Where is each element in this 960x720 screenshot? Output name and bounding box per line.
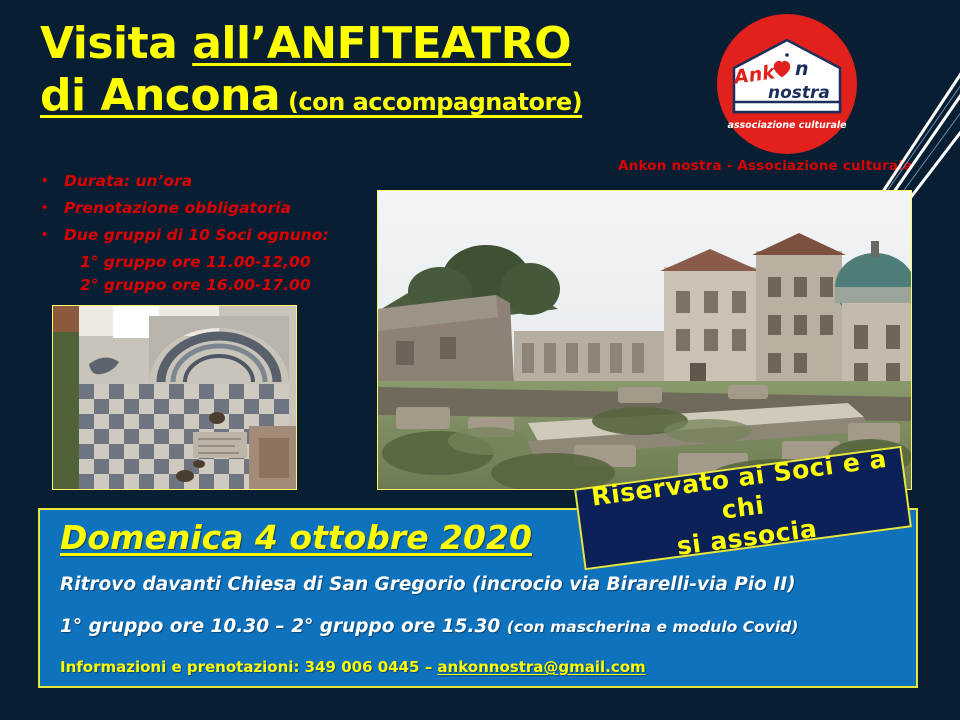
bullet-list: • Durata: un’ora • Prenotazione obbligat… [42, 170, 372, 297]
bullet-dot-icon: • [42, 224, 64, 246]
bullet-dot-icon: • [42, 170, 64, 192]
list-item: • Due gruppi di 10 Soci ognuno: [42, 224, 372, 246]
title-word-visita: Visita [40, 18, 192, 69]
list-item-label: Durata: un’ora [64, 170, 192, 192]
photo-mosaico [52, 305, 297, 490]
group-times-main: 1° gruppo ore 10.30 – 2° gruppo ore 15.3… [60, 616, 507, 637]
title-line-1: Visita all’ANFITEATRO [40, 18, 660, 70]
title-word-anfiteatro: all’ANFITEATRO [192, 18, 571, 69]
group-times-note: (con mascherina e modulo Covid) [507, 618, 799, 636]
bullet-dot-icon: • [42, 197, 64, 219]
group-time-1: 1° gruppo ore 11.00-12,00 [80, 251, 372, 274]
group-time-2: 2° gruppo ore 16.00-17.00 [80, 274, 372, 297]
page-title: Visita all’ANFITEATRO di Ancona (con acc… [40, 18, 660, 128]
contact-email-link[interactable]: ankonnostra@gmail.com [437, 658, 645, 676]
logo-ankon-nostra: Ank n nostra associazione culturale [717, 14, 857, 154]
logo-text-nostra: nostra [768, 83, 830, 103]
list-item-label: Prenotazione obbligatoria [64, 197, 291, 219]
title-word-ancona: di Ancona [40, 70, 280, 121]
title-subtitle-accompagnatore: (con accompagnatore) [280, 88, 582, 116]
contact-line: Informazioni e prenotazioni: 349 006 044… [60, 658, 646, 676]
logo-text-n: n [795, 58, 809, 80]
photo-anfiteatro [377, 190, 912, 490]
list-item: • Durata: un’ora [42, 170, 372, 192]
meeting-point: Ritrovo davanti Chiesa di San Gregorio (… [60, 574, 796, 595]
event-date: Domenica 4 ottobre 2020 [60, 518, 532, 557]
heart-icon [771, 58, 793, 80]
group-times: 1° gruppo ore 10.30 – 2° gruppo ore 15.3… [60, 616, 798, 637]
title-line-2: di Ancona (con accompagnatore) [40, 70, 660, 128]
logo-caption: Ankon nostra - Associazione culturale [618, 158, 912, 174]
logo-tagline: associazione culturale [717, 120, 857, 131]
contact-label: Informazioni e prenotazioni: 349 006 044… [60, 658, 437, 676]
list-item-label: Due gruppi di 10 Soci ognuno: [64, 224, 329, 246]
presentation-slide: Visita all’ANFITEATRO di Ancona (con acc… [0, 0, 960, 720]
list-item: • Prenotazione obbligatoria [42, 197, 372, 219]
